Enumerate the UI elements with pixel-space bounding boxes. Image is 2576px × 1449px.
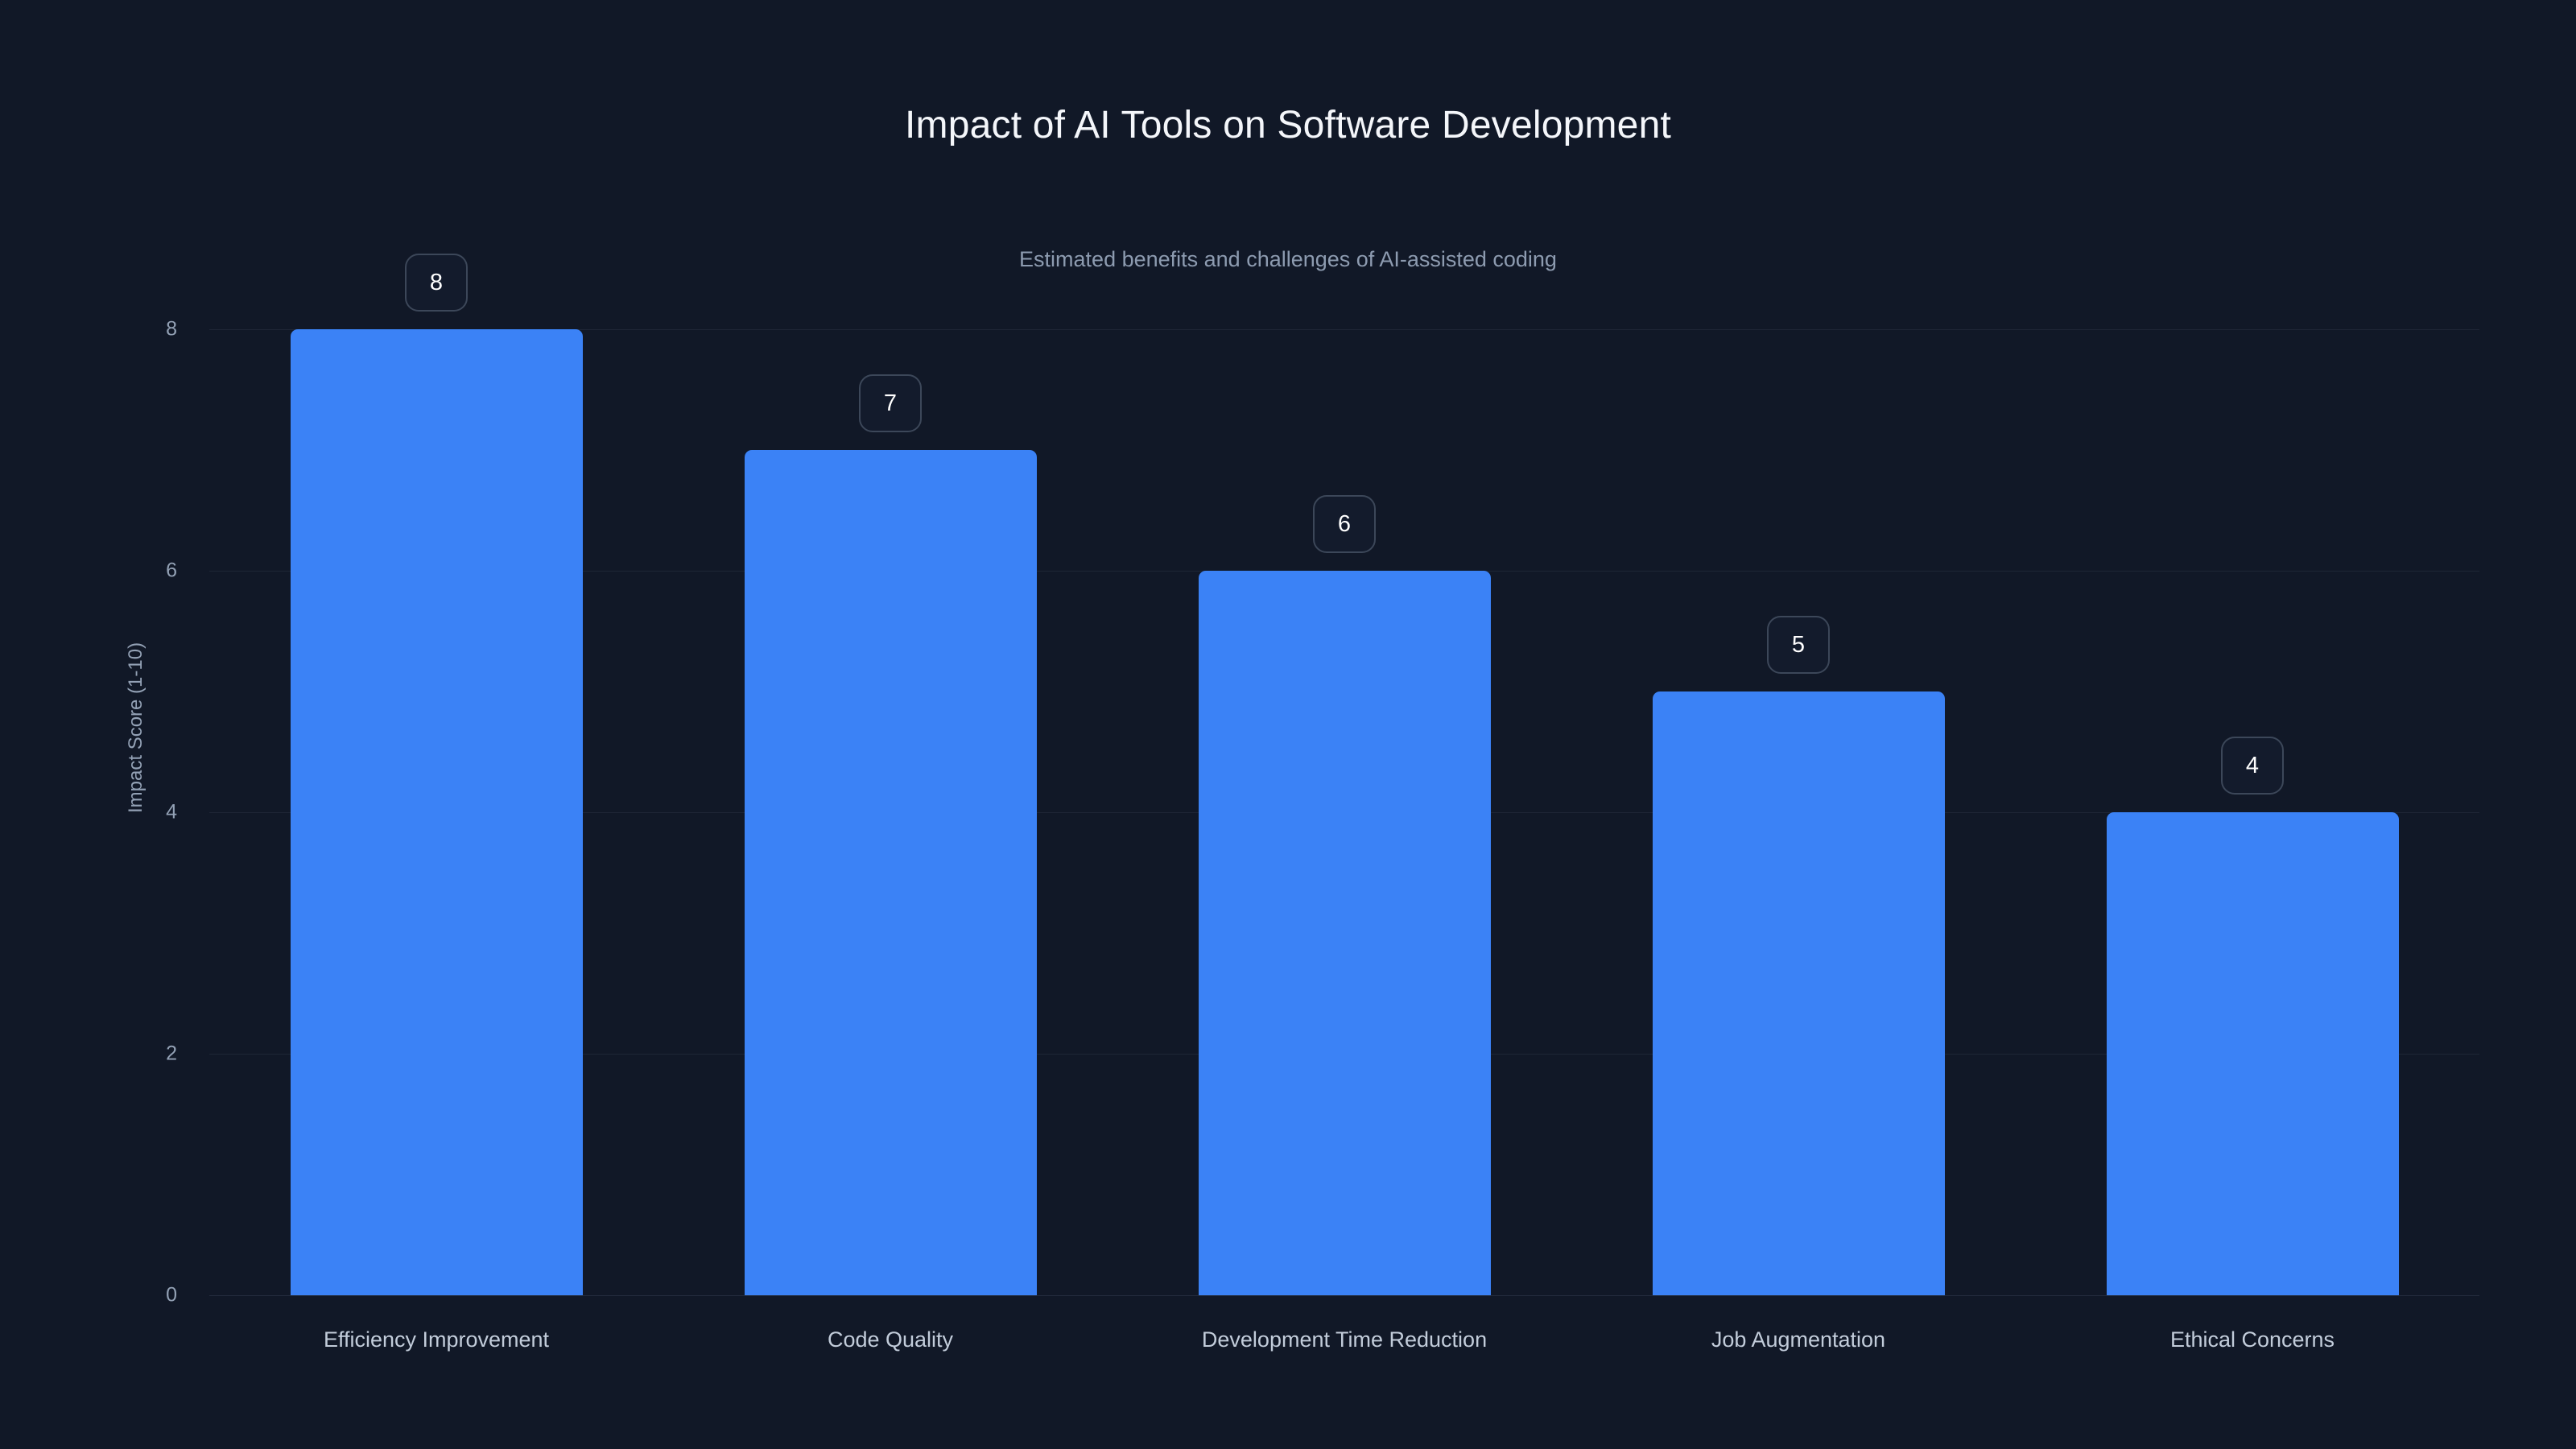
bar[interactable] xyxy=(745,450,1037,1295)
chart-subtitle: Estimated benefits and challenges of AI-… xyxy=(0,247,2576,272)
x-axis-category-label: Efficiency Improvement xyxy=(324,1327,549,1352)
bar-value-badge: 4 xyxy=(2221,737,2284,795)
bar[interactable] xyxy=(1653,691,1945,1295)
bar[interactable] xyxy=(1199,571,1491,1295)
chart-canvas: Impact of AI Tools on Software Developme… xyxy=(0,0,2576,1449)
bar-value-badge: 5 xyxy=(1767,616,1830,674)
chart-title: Impact of AI Tools on Software Developme… xyxy=(0,103,2576,147)
y-axis-tick-label: 8 xyxy=(80,318,177,341)
plot-area xyxy=(209,329,2479,1295)
y-axis-tick-label: 4 xyxy=(80,801,177,824)
bar[interactable] xyxy=(2107,812,2399,1295)
x-axis-category-label: Development Time Reduction xyxy=(1202,1327,1487,1352)
x-axis-category-label: Job Augmentation xyxy=(1711,1327,1885,1352)
x-axis-category-label: Code Quality xyxy=(828,1327,953,1352)
bar-value-badge: 8 xyxy=(405,254,468,312)
bar-value-badge: 7 xyxy=(859,374,922,432)
y-axis-tick-label: 2 xyxy=(80,1042,177,1066)
y-axis-tick-label: 6 xyxy=(80,559,177,583)
bar-value-badge: 6 xyxy=(1313,495,1376,553)
y-axis-title: Impact Score (1-10) xyxy=(125,642,147,813)
y-axis-tick-label: 0 xyxy=(80,1284,177,1307)
bar[interactable] xyxy=(291,329,583,1295)
gridline xyxy=(209,1295,2479,1296)
x-axis-category-label: Ethical Concerns xyxy=(2170,1327,2334,1352)
